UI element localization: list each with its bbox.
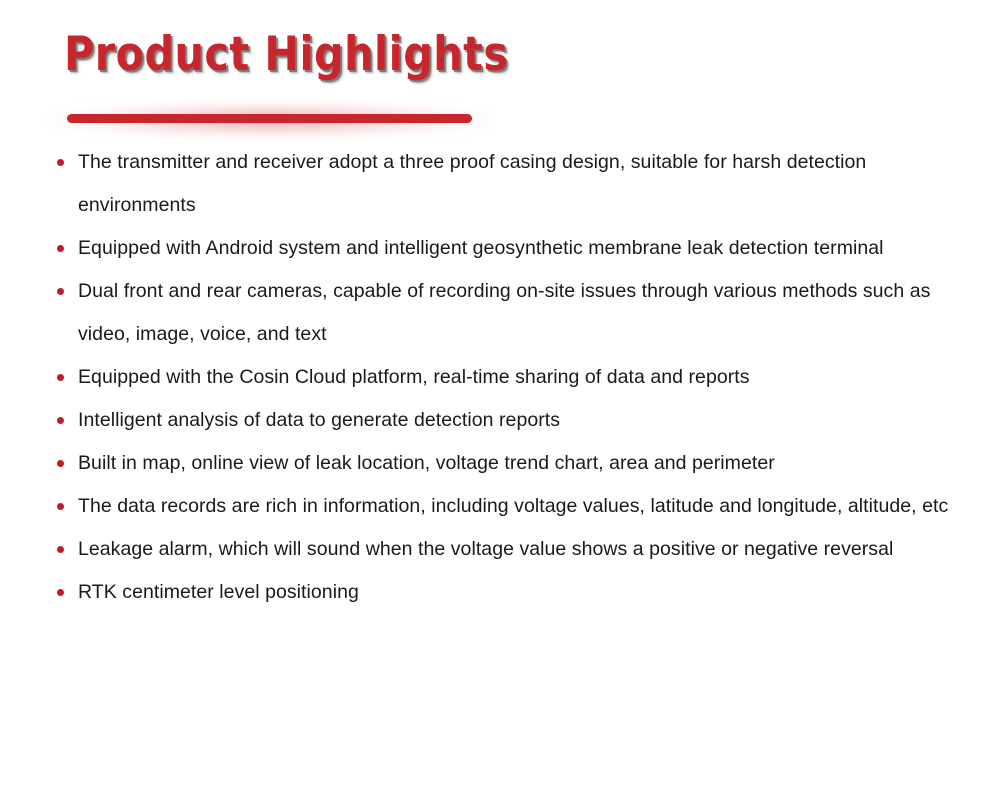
list-item-label: Equipped with Android system and intelli… <box>78 227 976 270</box>
list-item: The data records are rich in information… <box>56 485 976 528</box>
bullet-dot-icon <box>57 546 64 553</box>
bullet-dot-icon <box>57 503 64 510</box>
list-item: Equipped with Android system and intelli… <box>56 227 976 270</box>
page-title: Product Highlights <box>64 26 508 84</box>
list-item: Leakage alarm, which will sound when the… <box>56 528 976 571</box>
list-item: RTK centimeter level positioning <box>56 571 976 614</box>
title-block: Product Highlights <box>64 26 664 116</box>
bullet-dot-icon <box>57 288 64 295</box>
bullet-dot-icon <box>57 417 64 424</box>
list-item-label: Dual front and rear cameras, capable of … <box>78 270 976 356</box>
list-item: Dual front and rear cameras, capable of … <box>56 270 976 356</box>
list-item-label: Leakage alarm, which will sound when the… <box>78 528 976 571</box>
bullet-dot-icon <box>57 245 64 252</box>
list-item-label: Built in map, online view of leak locati… <box>78 442 976 485</box>
bullet-dot-icon <box>57 460 64 467</box>
list-item: The transmitter and receiver adopt a thr… <box>56 141 976 227</box>
list-item: Intelligent analysis of data to generate… <box>56 399 976 442</box>
list-item-label: RTK centimeter level positioning <box>78 571 976 614</box>
bullet-dot-icon <box>57 589 64 596</box>
list-item: Equipped with the Cosin Cloud platform, … <box>56 356 976 399</box>
title-underline <box>67 114 472 123</box>
bullet-dot-icon <box>57 159 64 166</box>
bullet-dot-icon <box>57 374 64 381</box>
list-item-label: Intelligent analysis of data to generate… <box>78 399 976 442</box>
list-item-label: The transmitter and receiver adopt a thr… <box>78 141 976 227</box>
list-item: Built in map, online view of leak locati… <box>56 442 976 485</box>
list-item-label: Equipped with the Cosin Cloud platform, … <box>78 356 976 399</box>
highlights-list: The transmitter and receiver adopt a thr… <box>56 141 976 614</box>
slide-root: Product Highlights The transmitter and r… <box>0 0 1000 800</box>
list-item-label: The data records are rich in information… <box>78 485 976 528</box>
